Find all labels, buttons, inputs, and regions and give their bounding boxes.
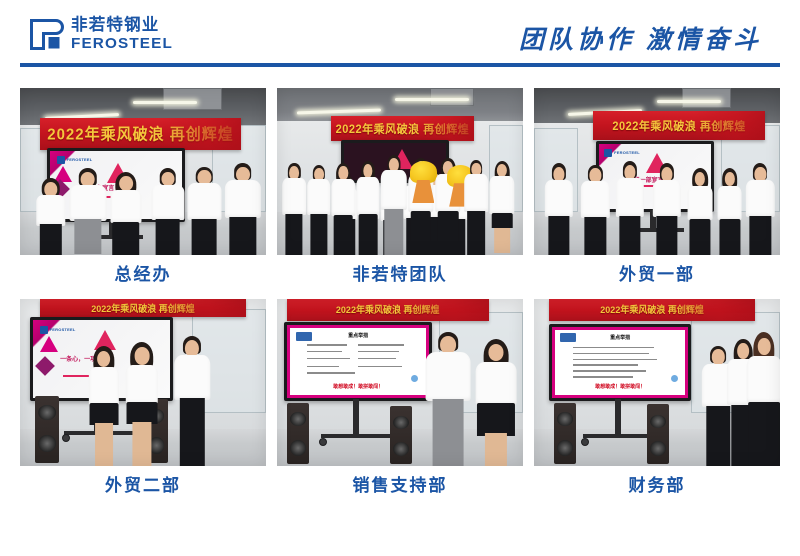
screen-slide-title: 重点举措: [555, 334, 686, 341]
brand-name-en: FEROSTEEL: [71, 36, 173, 53]
team-photo-zongjingban[interactable]: 2022年乘风破浪 再创辉煌 FEROSTEEL 总经办宣言: [20, 88, 266, 255]
screen-slide-title: 重点举措: [290, 332, 426, 339]
photo-caption: 非若特团队: [353, 266, 448, 283]
team-photo-waimao-erbu[interactable]: 2022年乘风破浪 再创辉煌 FEROSTEEL 一条心，一项目标: [20, 299, 266, 466]
header-divider: [20, 63, 780, 67]
page-slogan: 团队协作 激情奋斗: [519, 20, 762, 56]
screen-slide-footer: 敢想敢成！敢拼敢闯！: [290, 383, 426, 390]
team-photo-xiaoshou-zhichibu[interactable]: 2022年乘风破浪 再创辉煌 重点举措: [277, 299, 523, 466]
gallery-cell[interactable]: 2022年乘风破浪 再创辉煌 FEROSTEEL 一条心，一项目标: [20, 299, 266, 494]
brand-wordmark: 非若特钢业 FEROSTEEL: [71, 17, 171, 53]
page-header: 非若特钢业 FEROSTEEL 团队协作 激情奋斗: [0, 0, 800, 72]
ferosteel-r-mark-icon: [30, 19, 64, 50]
photo-caption: 销售支持部: [353, 477, 448, 494]
team-photo-caiwubu[interactable]: 2022年乘风破浪 再创辉煌 重点举措: [534, 299, 780, 466]
team-photo-ferosteel-team[interactable]: 2022年乘风破浪 再创辉煌: [277, 88, 523, 255]
photo-gallery: 2022年乘风破浪 再创辉煌 FEROSTEEL 总经办宣言: [0, 72, 800, 494]
team-photo-waimao-yibu[interactable]: 2022年乘风破浪 再创辉煌 FEROSTEEL 外贸一部宣言: [534, 88, 780, 255]
gallery-row: 2022年乘风破浪 再创辉煌 FEROSTEEL 一条心，一项目标: [20, 299, 780, 494]
photo-caption: 总经办: [115, 266, 172, 283]
gallery-cell[interactable]: 2022年乘风破浪 再创辉煌 重点举措: [277, 299, 523, 494]
gallery-row: 2022年乘风破浪 再创辉煌 FEROSTEEL 总经办宣言: [20, 88, 780, 283]
gallery-cell[interactable]: 2022年乘风破浪 再创辉煌 FEROSTEEL 总经办宣言: [20, 88, 266, 283]
photo-caption: 财务部: [629, 477, 686, 494]
brand-name-cn: 非若特钢业: [71, 17, 171, 34]
gallery-cell[interactable]: 2022年乘风破浪 再创辉煌 重点举措: [534, 299, 780, 494]
screen-slide-footer: 敢想敢成！敢拼敢闯！: [555, 383, 686, 390]
brand-logo: 非若特钢业 FEROSTEEL: [30, 17, 171, 53]
gallery-cell[interactable]: 2022年乘风破浪 再创辉煌: [277, 88, 523, 283]
photo-caption: 外贸一部: [619, 266, 695, 283]
photo-caption: 外贸二部: [105, 477, 181, 494]
gallery-cell[interactable]: 2022年乘风破浪 再创辉煌 FEROSTEEL 外贸一部宣言: [534, 88, 780, 283]
